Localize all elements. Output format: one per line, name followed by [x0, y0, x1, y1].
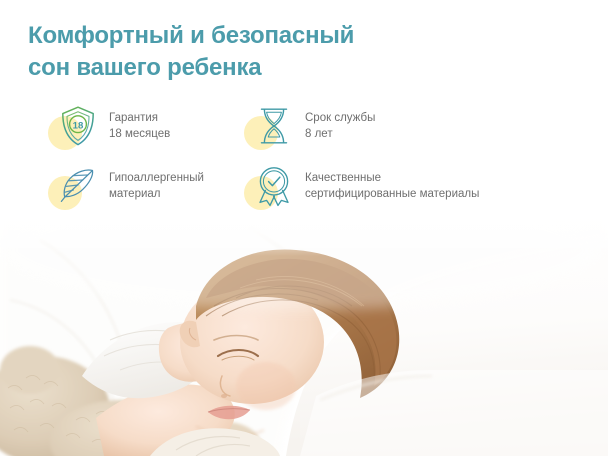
- hero-photo-sleeping-child: [0, 210, 608, 456]
- feature-certified-line-1: Качественные: [305, 170, 479, 186]
- feature-item-lifespan: Срок службы 8 лет: [252, 106, 512, 166]
- feature-lifespan-line-2: 8 лет: [305, 126, 375, 142]
- feature-lifespan-line-1: Срок службы: [305, 110, 375, 126]
- hourglass-icon: [252, 104, 296, 148]
- feature-warranty-text: Гарантия 18 месяцев: [109, 106, 170, 143]
- feature-hypoallergenic-line-2: материал: [109, 186, 204, 202]
- page-title: Комфортный и безопасный сон вашего ребен…: [28, 20, 508, 84]
- shield-badge-number: 18: [73, 120, 84, 131]
- feather-icon: [56, 164, 100, 208]
- feature-hypoallergenic-text: Гипоаллергенный материал: [109, 166, 204, 203]
- promo-banner: Комфортный и безопасный сон вашего ребен…: [0, 0, 608, 456]
- page-title-line-1: Комфортный и безопасный: [28, 20, 508, 52]
- feature-warranty-line-2: 18 месяцев: [109, 126, 170, 142]
- feature-lifespan-text: Срок службы 8 лет: [305, 106, 375, 143]
- feature-item-warranty: 18 Гарантия 18 месяцев: [56, 106, 252, 166]
- feature-hypoallergenic-line-1: Гипоаллергенный: [109, 170, 204, 186]
- feature-certified-text: Качественные сертифицированные материалы: [305, 166, 479, 203]
- page-title-line-2: сон вашего ребенка: [28, 52, 508, 84]
- feature-list: 18 Гарантия 18 месяцев: [56, 106, 526, 222]
- certificate-badge-icon: [252, 164, 296, 208]
- feature-certified-line-2: сертифицированные материалы: [305, 186, 479, 202]
- shield-18-icon: 18: [56, 104, 100, 148]
- feature-warranty-line-1: Гарантия: [109, 110, 170, 126]
